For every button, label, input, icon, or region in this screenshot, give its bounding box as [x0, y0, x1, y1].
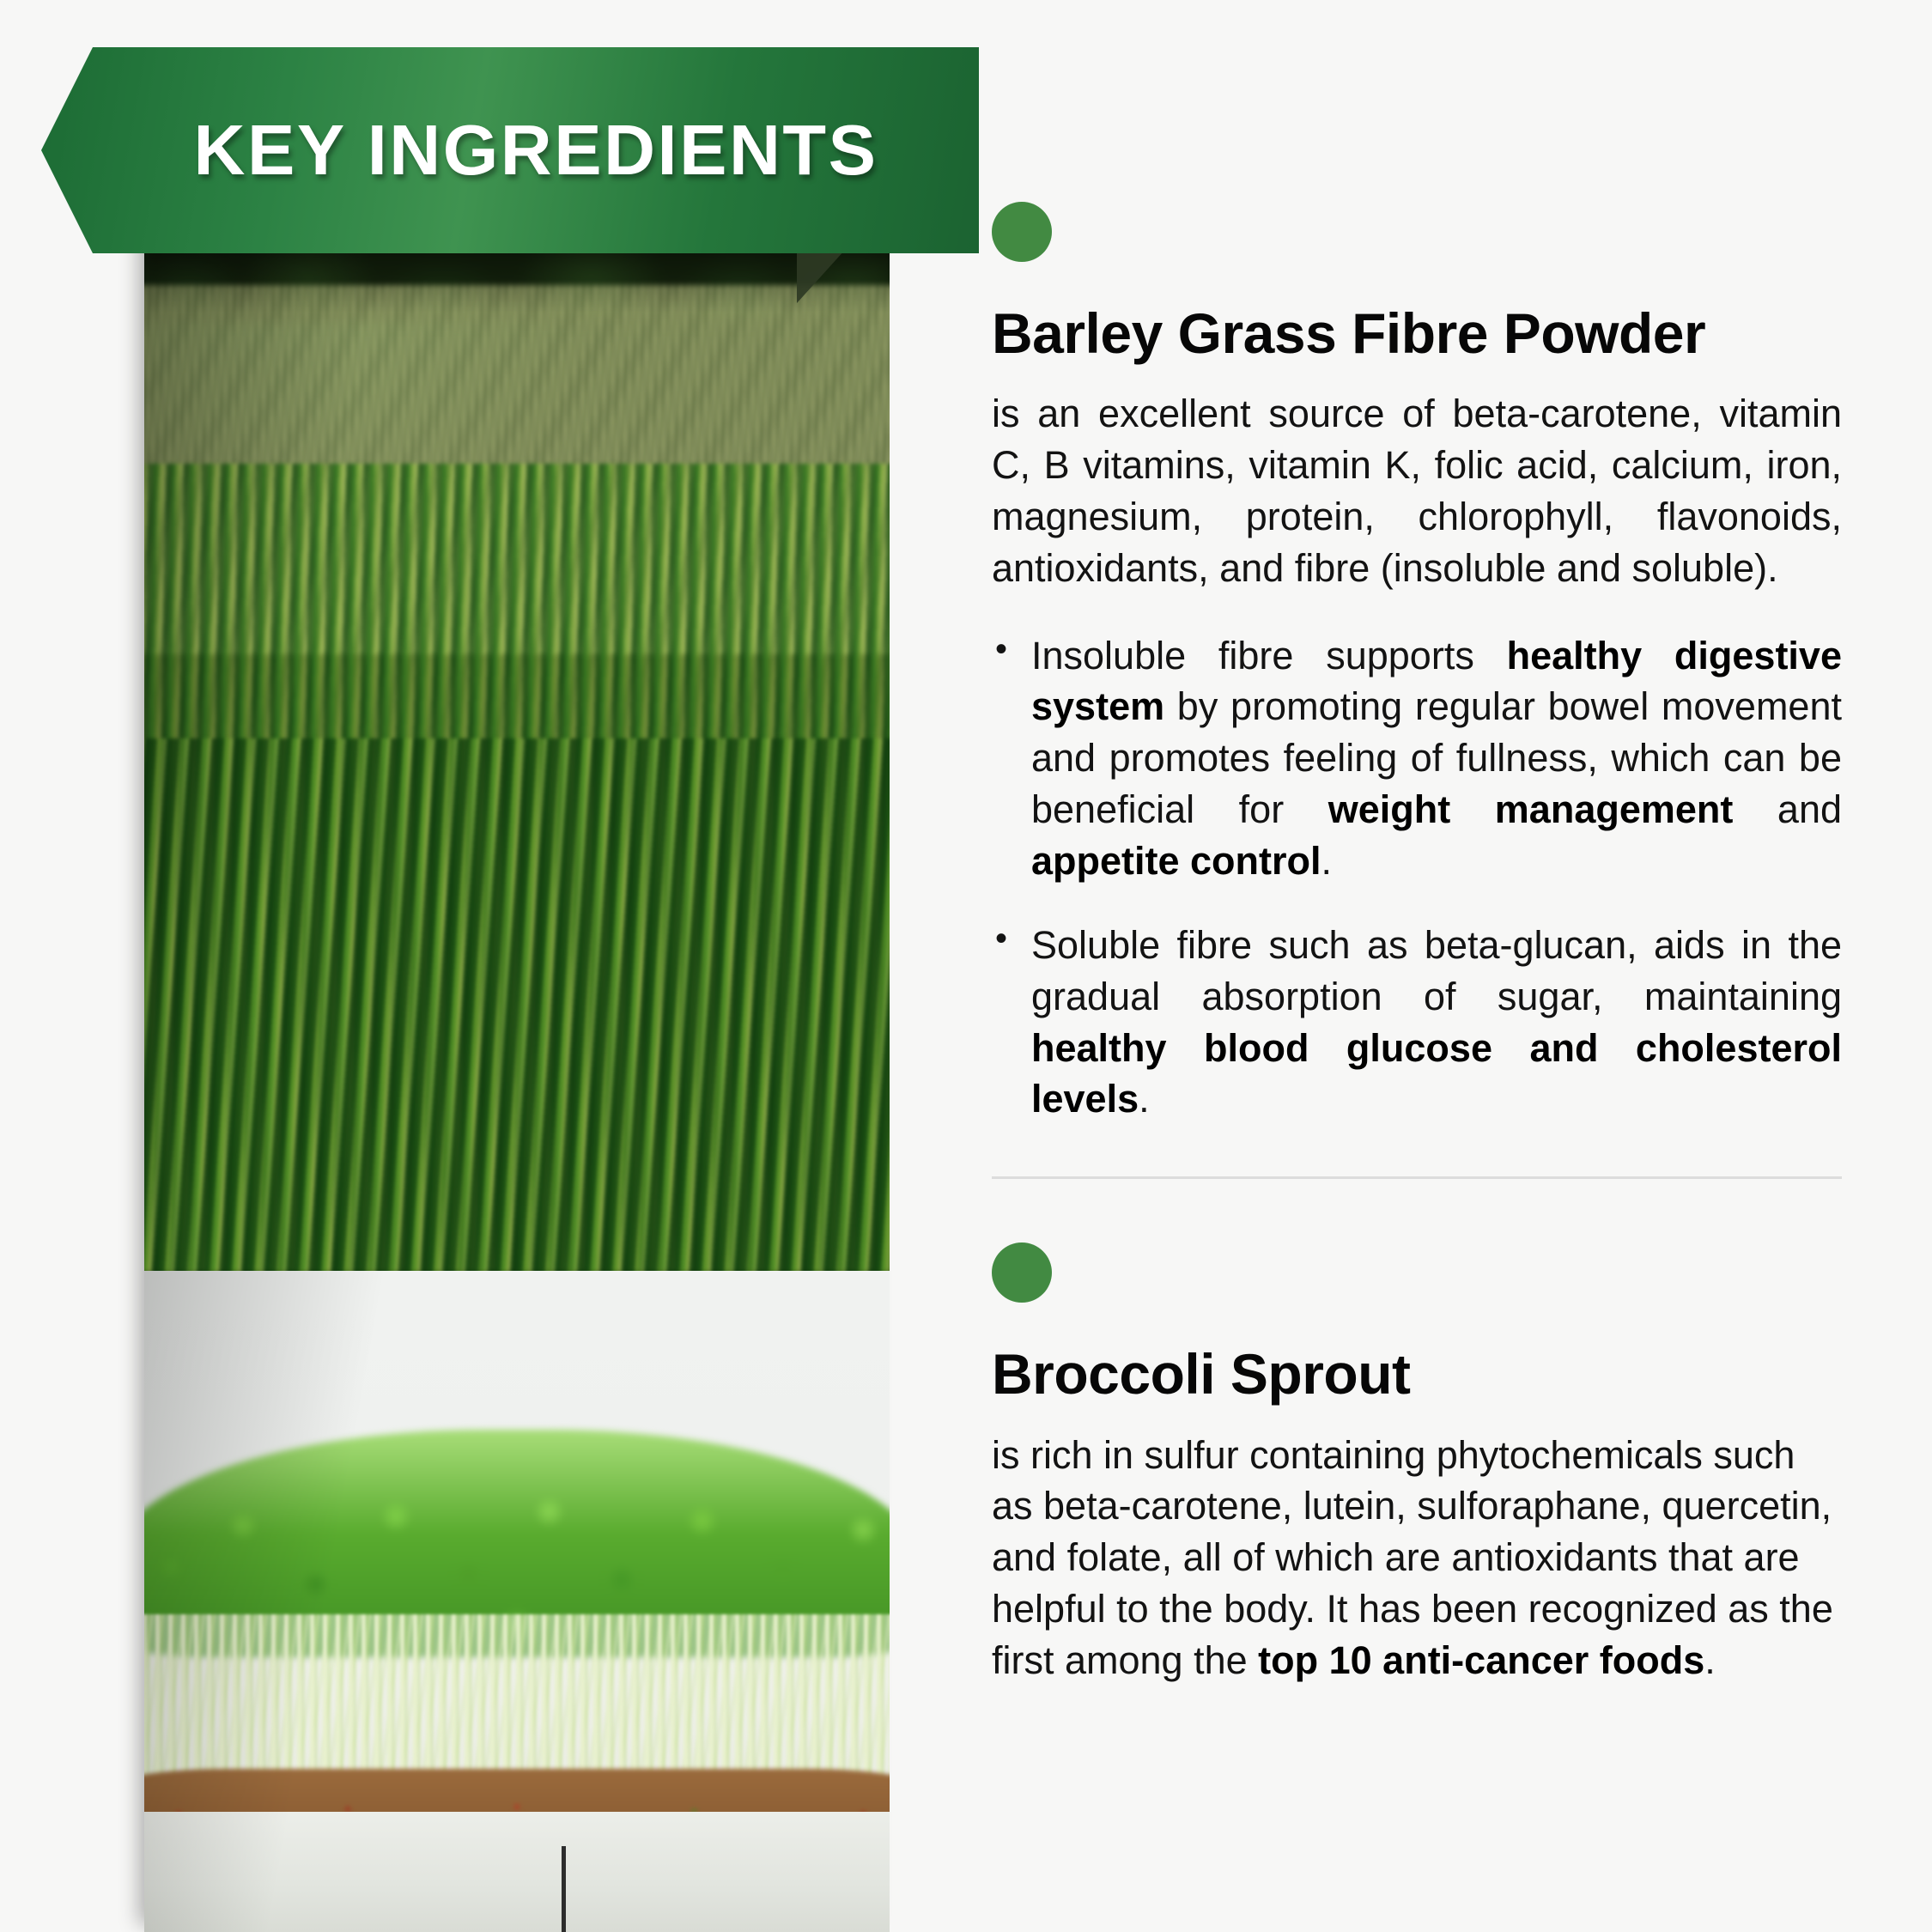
- section-intro-paragraph: is an excellent source of beta-carotene,…: [992, 388, 1842, 593]
- section-broccoli-sprout: Broccoli Sprout is rich in sulfur contai…: [992, 1242, 1842, 1686]
- section-barley-grass-fibre-powder: Barley Grass Fibre Powder is an excellen…: [992, 202, 1842, 1125]
- section-point-item: Soluble fibre such as beta-glucan, aids …: [992, 920, 1842, 1125]
- barley-shading-layer: [144, 206, 890, 1271]
- photo-column: [144, 206, 890, 1932]
- section-intro-paragraph: is rich in sulfur containing phytochemic…: [992, 1430, 1842, 1686]
- banner-fold-icon: [797, 250, 845, 303]
- section-point-item: Insoluble fibre supports healthy digesti…: [992, 630, 1842, 887]
- sprout-shading-layer: [144, 1271, 890, 1932]
- banner-title: KEY INGREDIENTS: [143, 109, 878, 191]
- section-marker-dot: [992, 1242, 1052, 1303]
- section-heading: Barley Grass Fibre Powder: [992, 303, 1842, 364]
- barley-grass-field-photo: [144, 206, 890, 1271]
- section-points-list: Insoluble fibre supports healthy digesti…: [992, 630, 1842, 1126]
- broccoli-sprouts-photo: [144, 1271, 890, 1932]
- section-heading: Broccoli Sprout: [992, 1344, 1842, 1405]
- banner-body: KEY INGREDIENTS: [41, 47, 979, 253]
- section-marker-dot: [992, 202, 1052, 262]
- section-divider: [992, 1176, 1842, 1179]
- content-column: Barley Grass Fibre Powder is an excellen…: [992, 202, 1842, 1686]
- infographic-page: KEY INGREDIENTS Barley Grass Fibre Powde…: [0, 0, 1932, 1932]
